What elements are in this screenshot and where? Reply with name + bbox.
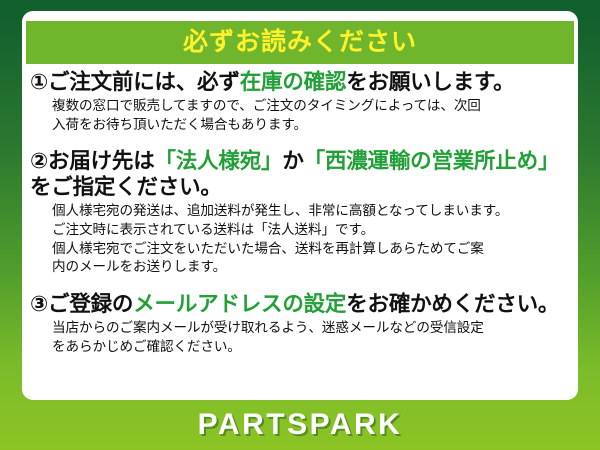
notice-item-2: ②お届け先は「法人様宛」か「西濃運輸の営業所止め」をご指定ください。 個人様宅宛… bbox=[22, 148, 578, 277]
notice-content: ①ご注文前には、必ず在庫の確認をお願いします。 複数の窓口で販売してますので、ご… bbox=[22, 69, 578, 357]
notice-item-3-number: ③ bbox=[30, 292, 48, 316]
notice-item-1-body-line-1: 複数の窓口で販売してますので、ご注文のタイミングによっては、次回 bbox=[52, 97, 572, 116]
notice-item-1: ①ご注文前には、必ず在庫の確認をお願いします。 複数の窓口で販売してますので、ご… bbox=[22, 69, 578, 135]
notice-item-2-body-line-3: 個人様宅宛でご注文をいただいた場合、送料を再計算しあらためてご案 bbox=[52, 240, 572, 259]
notice-item-2-heading-mid: か bbox=[282, 149, 303, 173]
notice-item-2-heading-pre: お届け先は bbox=[48, 149, 155, 173]
notice-item-3-heading-highlight: メールアドレスの設定 bbox=[133, 292, 346, 316]
notice-item-2-heading-post: をご指定ください。 bbox=[30, 175, 222, 199]
notice-item-1-heading-post: をお願いします。 bbox=[346, 70, 514, 94]
notice-item-3-heading-pre: ご登録の bbox=[48, 292, 133, 316]
notice-item-3-body-line-1: 当店からのご案内メールが受け取れるよう、迷惑メールなどの受信設定 bbox=[52, 319, 572, 338]
header-bar: 必ずお読みください bbox=[26, 21, 574, 64]
footer: PARTSPARK bbox=[0, 400, 600, 450]
brand-logo: PARTSPARK bbox=[198, 410, 403, 440]
notice-item-2-body: 個人様宅宛の発送は、追加送料が発生し、非常に高額となってしまいます。 ご注文時に… bbox=[52, 202, 572, 277]
page-title: 必ずお読みください bbox=[183, 30, 417, 55]
notice-item-2-number: ② bbox=[30, 149, 48, 173]
notice-item-1-heading: ①ご注文前には、必ず在庫の確認をお願いします。 bbox=[30, 69, 572, 95]
notice-card: 必ずお読みください ①ご注文前には、必ず在庫の確認をお願いします。 複数の窓口で… bbox=[22, 11, 578, 400]
notice-item-1-heading-highlight: 在庫の確認 bbox=[240, 70, 347, 94]
notice-item-2-heading-highlight: 「法人様宛」 bbox=[155, 149, 283, 173]
notice-item-3-heading-post: をお確かめください。 bbox=[346, 292, 559, 316]
notice-item-2-body-line-2: ご注文時に表示されている送料は「法人送料」です。 bbox=[52, 221, 572, 240]
notice-item-1-number: ① bbox=[30, 70, 48, 94]
notice-item-3-heading: ③ご登録のメールアドレスの設定をお確かめください。 bbox=[30, 291, 572, 317]
notice-banner: 必ずお読みください ①ご注文前には、必ず在庫の確認をお願いします。 複数の窓口で… bbox=[0, 0, 600, 450]
notice-item-3-body-line-2: をあらかじめご確認ください。 bbox=[52, 338, 572, 357]
notice-item-1-body-line-2: 入荷をお待ち頂いただく場合もあります。 bbox=[52, 116, 572, 135]
notice-item-2-heading-highlight-2: 「西濃運輸の営業所止め」 bbox=[304, 149, 560, 173]
notice-item-3-body: 当店からのご案内メールが受け取れるよう、迷惑メールなどの受信設定 をあらかじめご… bbox=[52, 319, 572, 357]
notice-item-2-body-line-4: 内のメールをお送りします。 bbox=[52, 258, 572, 277]
notice-item-3: ③ご登録のメールアドレスの設定をお確かめください。 当店からのご案内メールが受け… bbox=[22, 291, 578, 357]
notice-item-2-heading: ②お届け先は「法人様宛」か「西濃運輸の営業所止め」をご指定ください。 bbox=[30, 148, 572, 200]
notice-item-1-heading-pre: ご注文前には、必ず bbox=[48, 70, 240, 94]
notice-item-1-body: 複数の窓口で販売してますので、ご注文のタイミングによっては、次回 入荷をお待ち頂… bbox=[52, 97, 572, 135]
notice-item-2-body-line-1: 個人様宅宛の発送は、追加送料が発生し、非常に高額となってしまいます。 bbox=[52, 202, 572, 221]
